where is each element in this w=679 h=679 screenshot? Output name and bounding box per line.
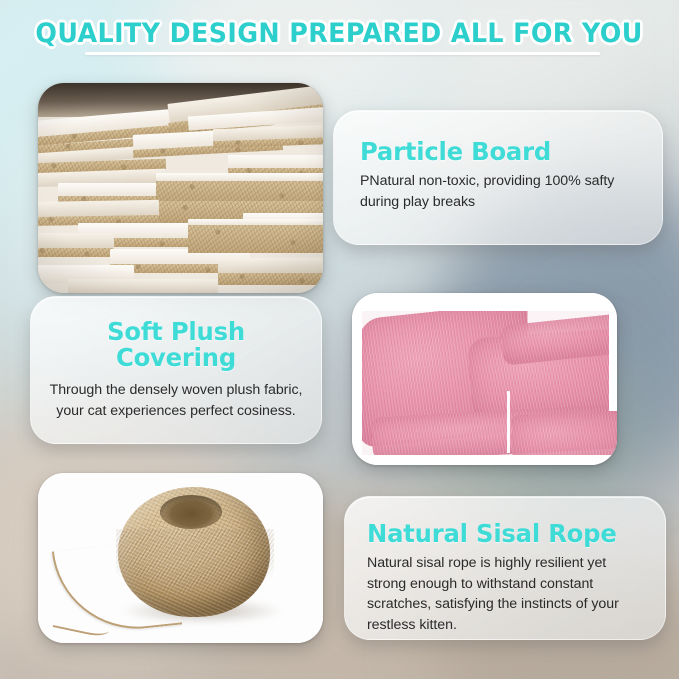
photo-vignette <box>38 83 323 293</box>
feature-card-particle-board: Particle Board PNatural non-toxic, provi… <box>333 110 663 245</box>
natural-sisal-rope-photo <box>38 473 323 643</box>
feature-title-particle-board: Particle Board <box>360 139 628 165</box>
sisal-rope-image <box>38 473 323 643</box>
feature-title-soft-plush-covering: Soft Plush Covering <box>53 319 299 372</box>
feature-card-soft-plush-covering: Soft Plush Covering Through the densely … <box>30 296 322 444</box>
soft-plush-photo <box>352 293 617 465</box>
particle-board-image <box>38 83 323 293</box>
feature-body-natural-sisal-rope: Natural sisal rope is highly resilient y… <box>367 553 645 635</box>
page-title: QUALITY DESIGN PREPARED ALL FOR YOU <box>36 18 643 49</box>
fabric-texture-overlay <box>352 293 617 465</box>
header-underline <box>85 52 600 55</box>
feature-card-natural-sisal-rope: Natural Sisal Rope Natural sisal rope is… <box>344 496 666 640</box>
feature-title-natural-sisal-rope: Natural Sisal Rope <box>367 521 637 547</box>
infographic-canvas: QUALITY DESIGN PREPARED ALL FOR YOU <box>0 0 679 679</box>
fabric-seam <box>507 391 510 453</box>
rope-center-hole <box>160 495 222 529</box>
feature-body-soft-plush-covering: Through the densely woven plush fabric, … <box>49 380 303 423</box>
banner-header: QUALITY DESIGN PREPARED ALL FOR YOU <box>0 18 679 49</box>
particle-board-photo <box>38 83 323 293</box>
feature-body-particle-board: PNatural non-toxic, providing 100% safty… <box>360 171 636 212</box>
plush-fabric-image <box>352 293 617 465</box>
